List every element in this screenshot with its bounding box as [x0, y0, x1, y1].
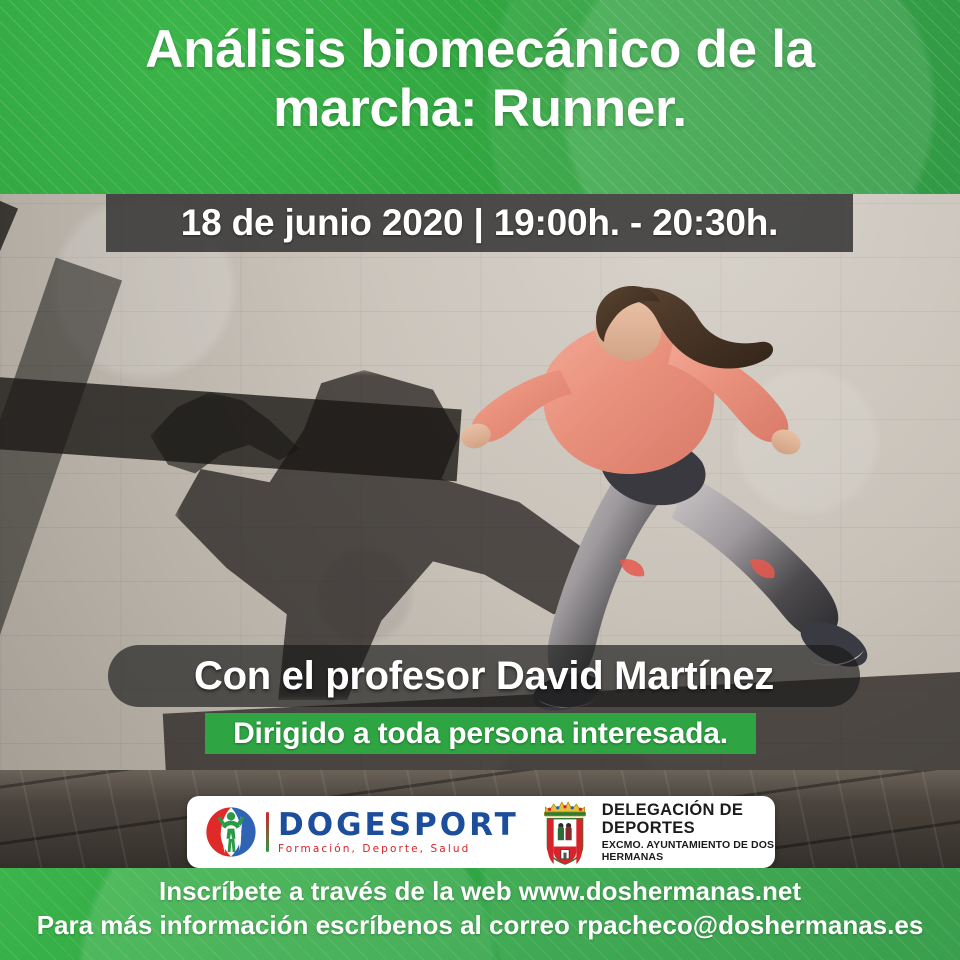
audience-text: Dirigido a toda persona interesada. [233, 717, 728, 751]
delegacion-subtitle: EXCMO. AYUNTAMIENTO DE DOS HERMANAS [602, 840, 775, 863]
professor-banner: Con el profesor David Martínez [108, 645, 860, 707]
logo-divider [266, 812, 269, 852]
delegacion-logo: DELEGACIÓN DE DEPORTES EXCMO. AYUNTAMIEN… [539, 799, 775, 865]
date-time-banner: 18 de junio 2020 | 19:00h. - 20:30h. [106, 194, 853, 252]
coat-of-arms-icon [539, 799, 591, 865]
poster-footer: Inscríbete a través de la web www.dosher… [0, 868, 960, 960]
page-title: Análisis biomecánico de la marcha: Runne… [40, 20, 920, 139]
footer-contact-line: Para más información escríbenos al corre… [0, 910, 960, 941]
professor-text: Con el profesor David Martínez [194, 654, 774, 699]
delegacion-title: DELEGACIÓN DE DEPORTES [602, 801, 775, 837]
dogesport-wordmark: DOGESPORT Formación, Deporte, Salud [278, 810, 519, 855]
poster-header: Análisis biomecánico de la marcha: Runne… [0, 0, 960, 194]
audience-banner: Dirigido a toda persona interesada. [205, 713, 756, 754]
dogesport-emblem-icon [203, 804, 259, 860]
dogesport-tagline: Formación, Deporte, Salud [278, 844, 519, 855]
title-line-1: Análisis biomecánico de la [40, 20, 920, 79]
title-line-2: marcha: Runner. [40, 79, 920, 138]
footer-registration-line: Inscríbete a través de la web www.dosher… [0, 876, 960, 907]
delegacion-wordmark: DELEGACIÓN DE DEPORTES EXCMO. AYUNTAMIEN… [602, 801, 775, 863]
sponsor-logo-card: DOGESPORT Formación, Deporte, Salud [187, 796, 775, 868]
dogesport-name: DOGESPORT [278, 810, 519, 841]
dogesport-logo: DOGESPORT Formación, Deporte, Salud [187, 804, 519, 860]
event-poster: Análisis biomecánico de la marcha: Runne… [0, 0, 960, 960]
date-time-text: 18 de junio 2020 | 19:00h. - 20:30h. [181, 202, 778, 244]
